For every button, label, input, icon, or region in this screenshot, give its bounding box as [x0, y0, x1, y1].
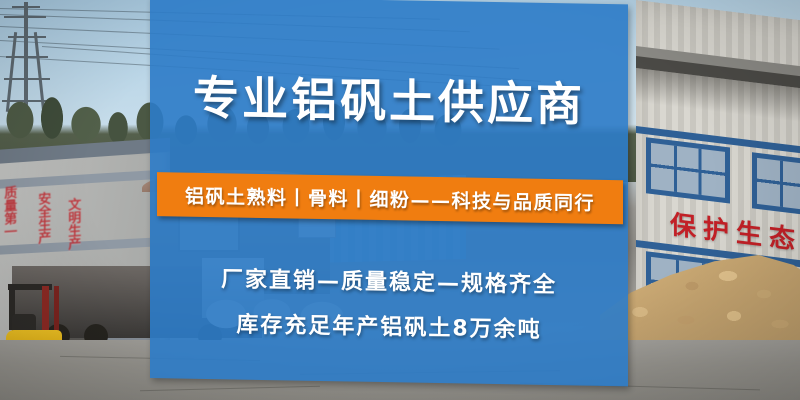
orange-ribbon: 铝矾土熟料丨骨料丨细粉——科技与品质同行: [157, 172, 623, 224]
banner-content: 专业铝矾土供应商 铝矾土熟料丨骨料丨细粉——科技与品质同行 厂家直销—质量稳定—…: [150, 0, 628, 386]
orange-ribbon-text: 铝矾土熟料丨骨料丨细粉——科技与品质同行: [185, 181, 595, 215]
headline: 专业铝矾土供应商: [150, 74, 628, 128]
left-building-sign: 安全生产: [36, 192, 49, 245]
promo-banner: 质量第一 安全生产 文明生产 保护生态: [0, 0, 800, 400]
building-window: [646, 137, 730, 203]
left-building-sign: 文明生产: [66, 198, 79, 251]
subheading-line-2: 库存充足年产铝矾土8万余吨: [150, 305, 628, 345]
subheading-line-1: 厂家直销—质量稳定—规格齐全: [150, 260, 628, 300]
left-building-sign: 质量第一: [2, 186, 15, 239]
building-window: [752, 152, 800, 218]
wall-band: [0, 237, 170, 255]
